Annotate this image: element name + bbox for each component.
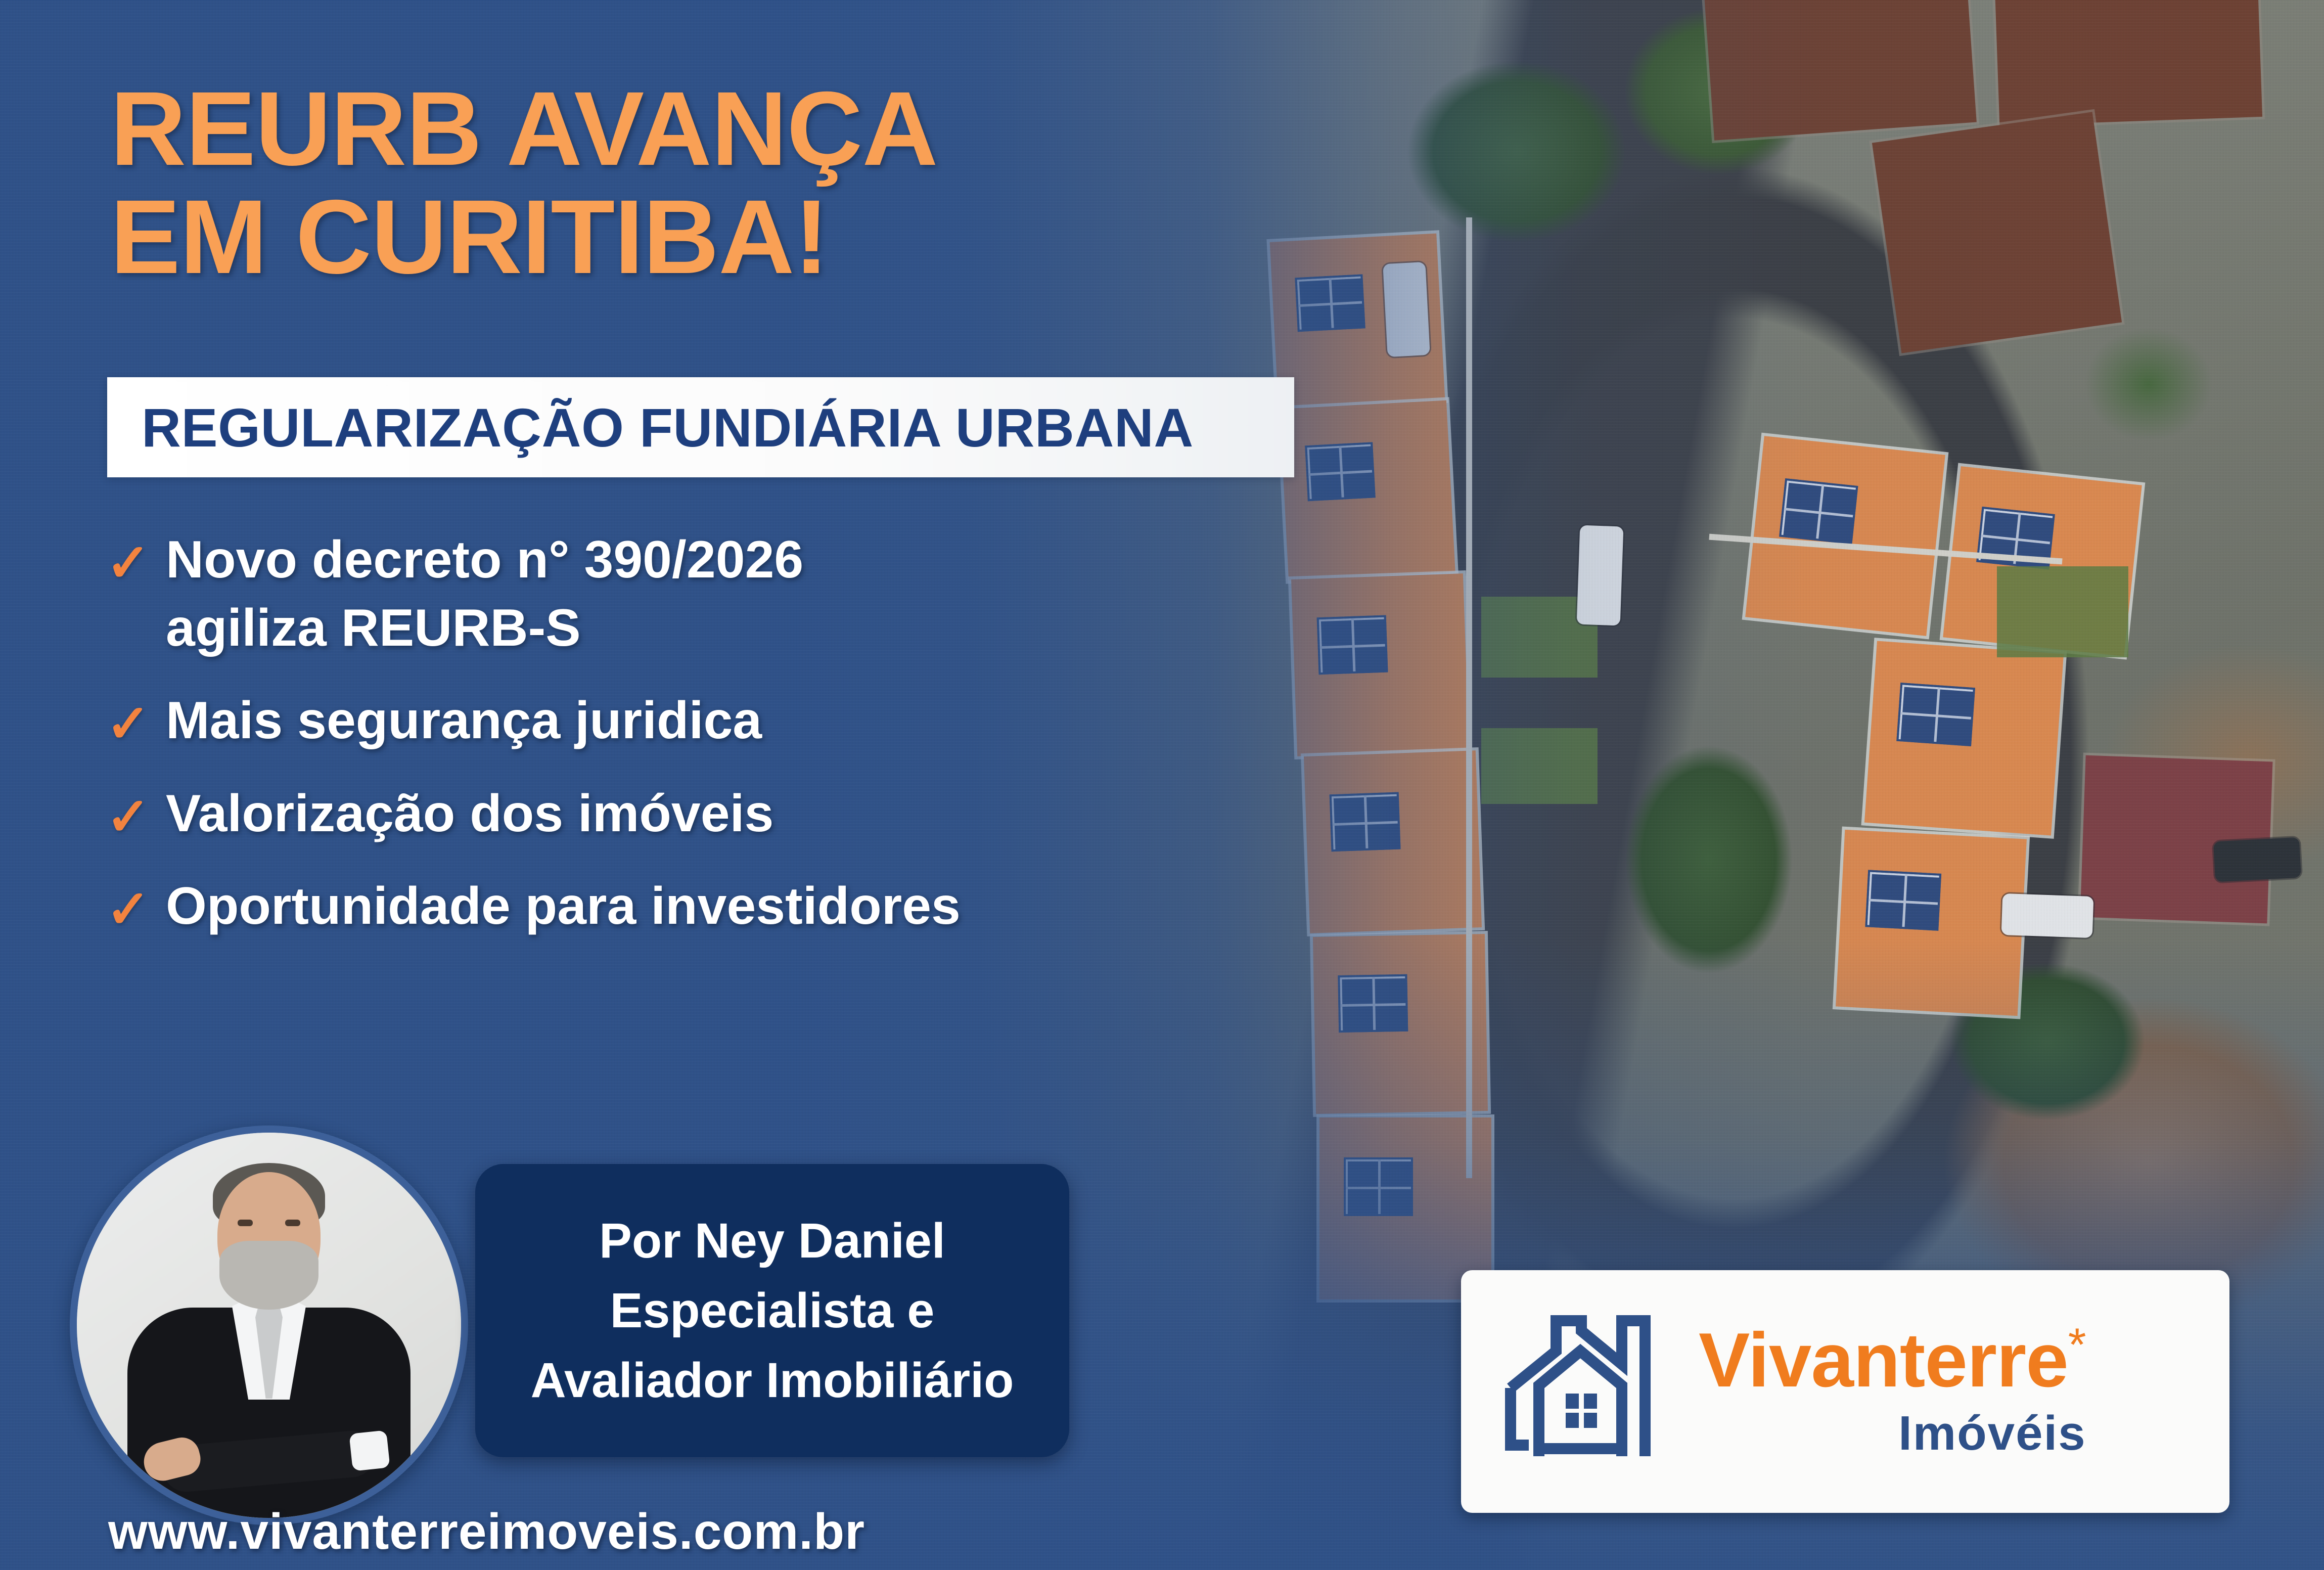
- avatar-beard: [219, 1241, 318, 1310]
- subtitle-strip: REGULARIZAÇÃO FUNDIÁRIA URBANA: [107, 377, 1294, 477]
- logo-star-icon: *: [2068, 1319, 2086, 1371]
- headline-line-1: REURB AVANÇA: [110, 70, 938, 188]
- check-icon: ✓: [106, 698, 166, 750]
- list-item-label: Mais segurança juridica: [166, 687, 762, 755]
- check-icon: ✓: [106, 883, 166, 936]
- list-item: ✓ Oportunidade para investidores: [106, 872, 1319, 940]
- author-badge-line-1: Por Ney Daniel: [599, 1206, 945, 1276]
- list-item-label: Valorização dos imóveis: [166, 780, 773, 848]
- avatar-eye-right: [285, 1220, 300, 1226]
- benefits-list: ✓ Novo decreto n° 390/2026 agiliza REURB…: [106, 526, 1319, 965]
- subtitle-strip-text: REGULARIZAÇÃO FUNDIÁRIA URBANA: [107, 396, 1194, 459]
- check-icon: ✓: [106, 791, 166, 843]
- list-item: ✓ Valorização dos imóveis: [106, 780, 1319, 848]
- avatar-eye-left: [238, 1220, 253, 1226]
- check-icon: ✓: [106, 537, 166, 590]
- list-item-label: Novo decreto n° 390/2026 agiliza REURB-S: [166, 526, 803, 662]
- list-item: ✓ Novo decreto n° 390/2026 agiliza REURB…: [106, 526, 1319, 662]
- list-item: ✓ Mais segurança juridica: [106, 687, 1319, 755]
- website-url[interactable]: www.vivanterreimoveis.com.br: [108, 1503, 865, 1561]
- logo-wordmark: Vivanterre* Imóvéis: [1699, 1322, 2086, 1461]
- company-logo[interactable]: Vivanterre* Imóvéis: [1461, 1270, 2229, 1513]
- logo-subtitle: Imóvéis: [1699, 1406, 2086, 1461]
- author-badge-line-2: Especialista e: [610, 1276, 935, 1345]
- page-title: REURB AVANÇA EM CURITIBA!: [110, 75, 1273, 291]
- promotional-banner: REURB AVANÇA EM CURITIBA! REGULARIZAÇÃO …: [0, 0, 2324, 1570]
- author-badge-line-3: Avaliador Imobiliário: [531, 1345, 1014, 1415]
- list-item-label: Oportunidade para investidores: [166, 872, 961, 940]
- logo-name: Vivanterre: [1699, 1322, 2068, 1399]
- headline-line-2: EM CURITIBA!: [110, 183, 1273, 291]
- author-badge: Por Ney Daniel Especialista e Avaliador …: [475, 1164, 1069, 1457]
- avatar-shirt-cuff: [349, 1430, 390, 1471]
- house-icon: [1495, 1305, 1662, 1479]
- avatar: [70, 1126, 468, 1525]
